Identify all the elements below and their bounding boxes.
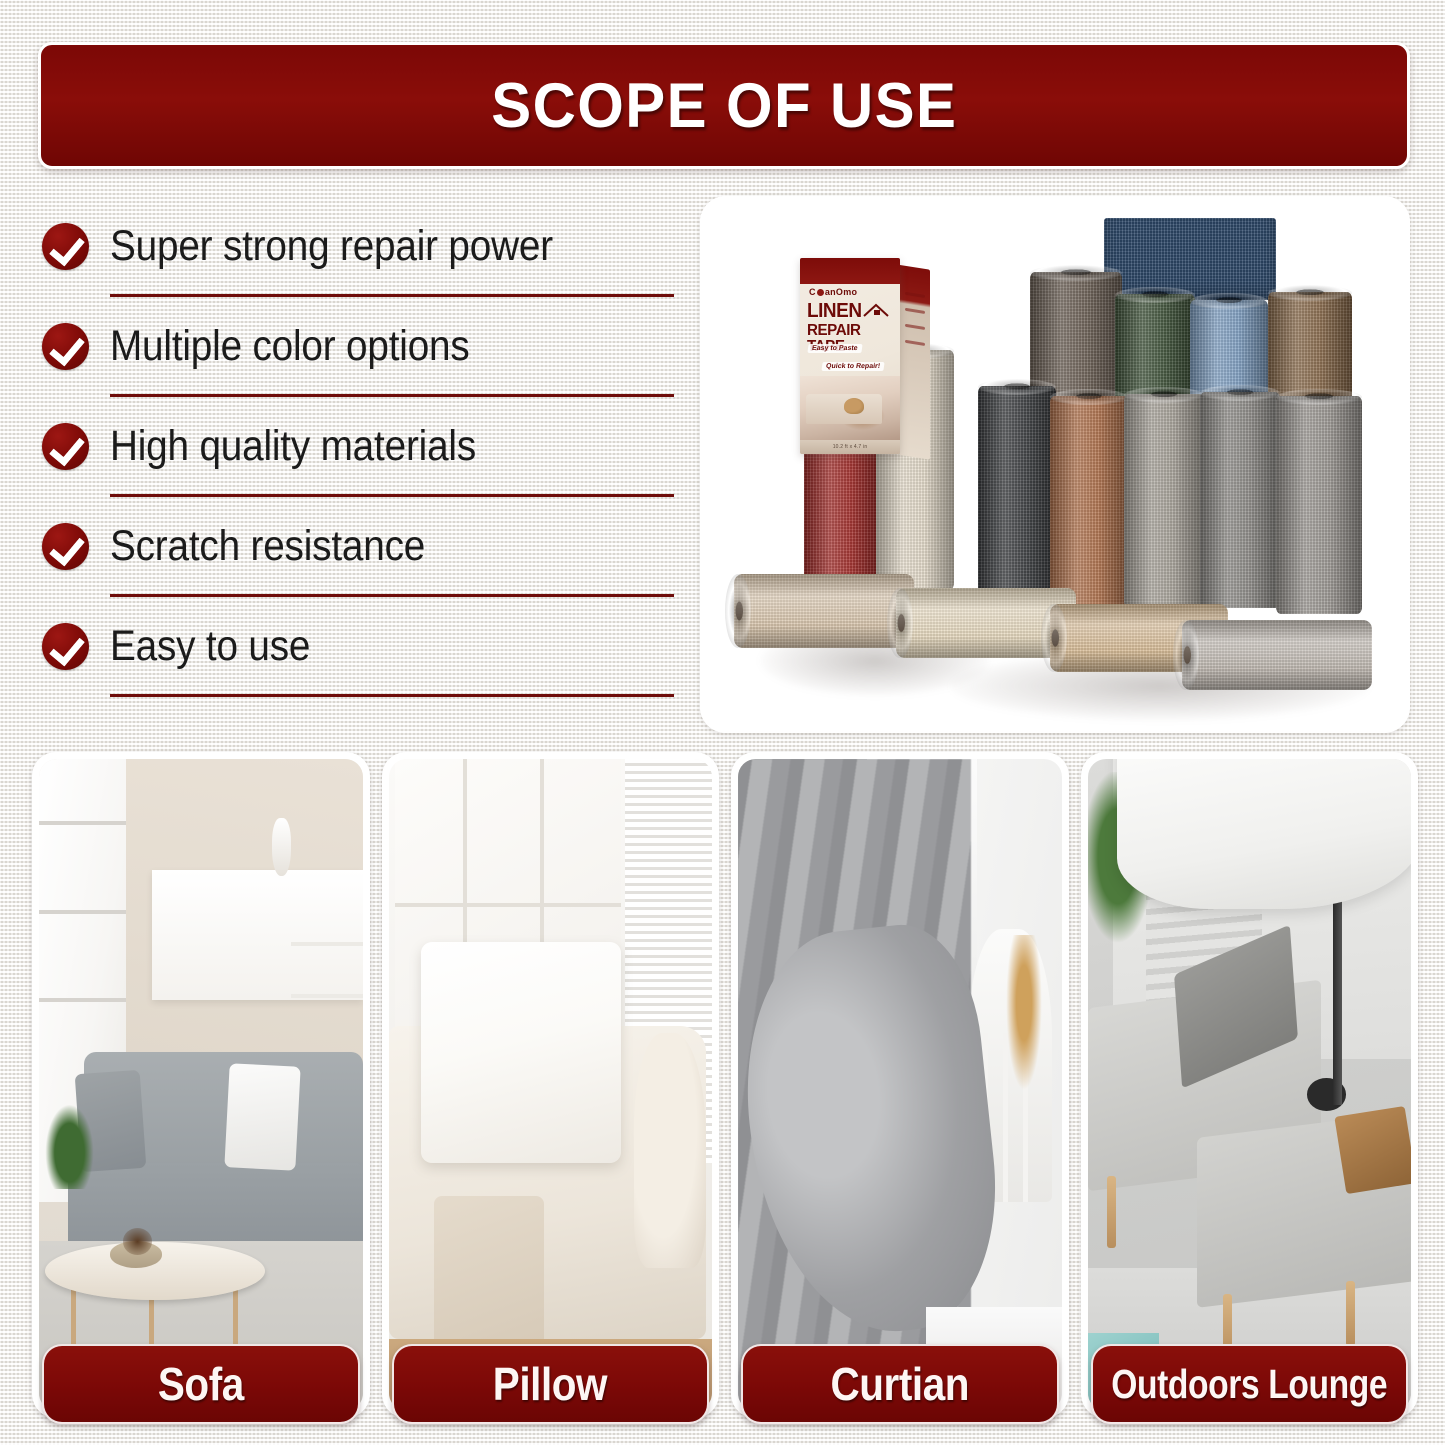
box-front-panel: CanOmo LINEN REPAIR TAPE Easy to Paste Q… <box>800 258 900 454</box>
feature-item: Super strong repair power <box>42 196 674 296</box>
use-case-card-pillow[interactable]: Pillow <box>382 752 720 1418</box>
feature-label: Easy to use <box>110 622 310 671</box>
retail-box: CanOmo LINEN REPAIR TAPE Easy to Paste Q… <box>800 258 930 458</box>
tape-roll-greige-lying <box>1182 620 1372 690</box>
feature-divider <box>110 694 674 697</box>
linen-pillow <box>421 942 622 1164</box>
feature-label: Multiple color options <box>110 322 470 371</box>
use-case-card-outdoors[interactable]: Outdoors Lounge <box>1081 752 1419 1418</box>
box-side-panel <box>900 265 930 460</box>
product-photo: CanOmo LINEN REPAIR TAPE Easy to Paste Q… <box>700 196 1410 733</box>
box-tag-quick: Quick to Repair! <box>821 362 884 371</box>
box-feature-bullets <box>905 292 925 359</box>
card-label-curtain: Curtian <box>741 1344 1059 1424</box>
check-circle-icon <box>42 323 89 370</box>
box-top-band <box>800 258 900 284</box>
check-circle-icon <box>42 223 89 270</box>
card-photo-sofa <box>39 759 363 1411</box>
feature-item: Easy to use <box>42 596 674 696</box>
check-circle-icon <box>42 523 89 570</box>
card-label-sofa: Sofa <box>42 1344 360 1424</box>
card-label-pillow: Pillow <box>392 1344 710 1424</box>
plant-decor <box>42 1098 97 1189</box>
box-tag-easy: Easy to Paste <box>807 344 862 353</box>
box-size-band: 10.2 ft x 4.7 in <box>800 440 900 454</box>
check-circle-icon <box>42 623 89 670</box>
outdoors-scene <box>1088 759 1412 1411</box>
card-label-text: Pillow <box>493 1357 607 1411</box>
page-title: SCOPE OF USE <box>491 70 957 142</box>
pillow-scene <box>389 759 713 1411</box>
feature-item: Multiple color options <box>42 296 674 396</box>
feature-label: Super strong repair power <box>110 222 553 271</box>
feature-item: High quality materials <box>42 396 674 496</box>
infographic-page: SCOPE OF USE Super strong repair power M… <box>0 0 1445 1445</box>
check-circle-icon <box>42 423 89 470</box>
box-size-text: 10.2 ft x 4.7 in <box>833 444 868 450</box>
header-banner: SCOPE OF USE <box>38 42 1410 169</box>
feature-label: Scratch resistance <box>110 522 425 571</box>
card-label-text: Outdoors Lounge <box>1111 1361 1387 1408</box>
card-photo-outdoors <box>1088 759 1412 1411</box>
card-label-text: Curtian <box>830 1357 969 1411</box>
card-label-text: Sofa <box>158 1357 244 1411</box>
sofa-scene <box>39 759 363 1411</box>
tape-roll-terracotta <box>1050 396 1128 606</box>
tape-roll-charcoal <box>978 386 1056 604</box>
house-roof-icon <box>862 302 894 318</box>
umbrella-pole <box>1333 889 1342 1104</box>
tape-roll-grey <box>1200 392 1280 608</box>
use-case-card-curtain[interactable]: Curtian <box>731 752 1069 1418</box>
dried-flowers <box>1003 935 1045 1105</box>
use-case-card-sofa[interactable]: Sofa <box>32 752 370 1418</box>
brand-logo: CanOmo <box>809 287 857 297</box>
feature-label: High quality materials <box>110 422 476 471</box>
tape-roll-lightgrey <box>1124 394 1204 608</box>
curtain-scene <box>738 759 1062 1411</box>
feature-list: Super strong repair power Multiple color… <box>42 196 674 736</box>
card-label-outdoors: Outdoors Lounge <box>1091 1344 1409 1424</box>
patio-umbrella <box>1117 759 1411 909</box>
dog-illustration <box>844 398 864 414</box>
tape-roll-warmgrey <box>1276 396 1362 614</box>
white-cushion <box>224 1064 301 1172</box>
use-case-cards: Sofa <box>32 752 1418 1418</box>
card-photo-pillow <box>389 759 713 1411</box>
box-lifestyle-photo <box>800 376 900 440</box>
product-photo-panel: CanOmo LINEN REPAIR TAPE Easy to Paste Q… <box>700 196 1410 733</box>
card-photo-curtain <box>738 759 1062 1411</box>
woven-pillow <box>1334 1106 1411 1194</box>
vase-decor <box>272 818 291 877</box>
feature-item: Scratch resistance <box>42 496 674 596</box>
